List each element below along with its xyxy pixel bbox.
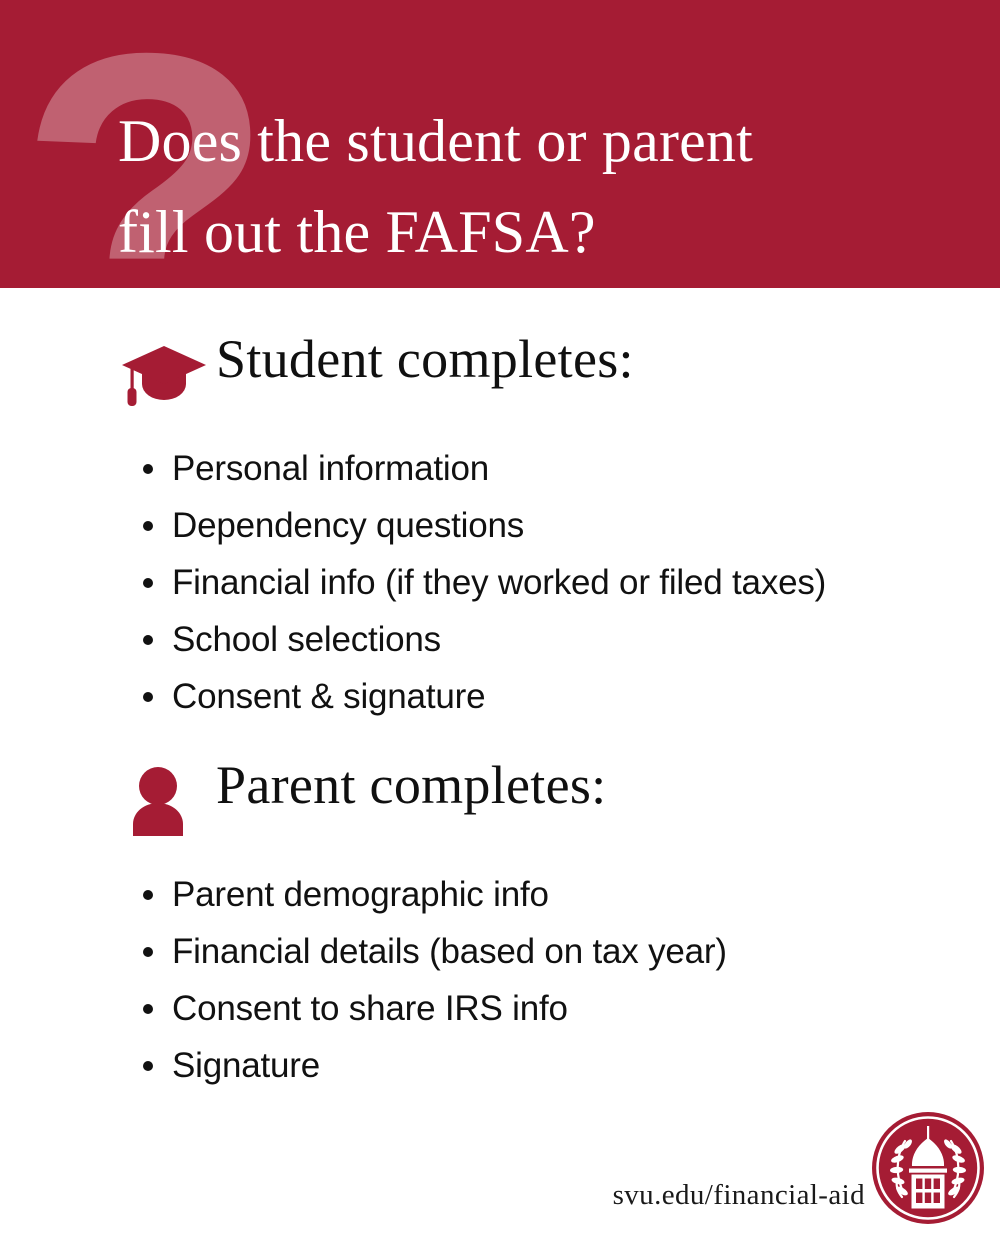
list-item: Consent & signature: [0, 668, 1000, 725]
footer: svu.edu/financial-aid: [0, 1105, 1000, 1250]
fafsa-infographic: ? Does the student or parent fill out th…: [0, 0, 1000, 1250]
page-title: Does the student or parent fill out the …: [118, 96, 948, 278]
bullet-dot-icon: [143, 635, 153, 645]
financial-aid-url[interactable]: svu.edu/financial-aid: [613, 1179, 865, 1212]
list-item-label: Personal information: [172, 449, 489, 488]
section-parent-header: Parent completes:: [0, 758, 1000, 844]
list-item: Parent demographic info: [0, 866, 1000, 923]
list-item-label: Financial info (if they worked or filed …: [172, 563, 826, 602]
list-item: Personal information: [0, 440, 1000, 497]
graduation-cap-icon: [112, 338, 208, 410]
bullet-dot-icon: [143, 1004, 153, 1014]
bullet-dot-icon: [143, 692, 153, 702]
list-item: Financial info (if they worked or filed …: [0, 554, 1000, 611]
bullet-dot-icon: [143, 578, 153, 588]
list-item-label: Consent & signature: [172, 677, 485, 716]
person-icon: [112, 764, 208, 836]
list-item: Consent to share IRS info: [0, 980, 1000, 1037]
svu-seal-logo: [871, 1111, 985, 1225]
list-item: Financial details (based on tax year): [0, 923, 1000, 980]
section-parent-title: Parent completes:: [216, 754, 606, 816]
list-item-label: Parent demographic info: [172, 875, 549, 914]
list-item: School selections: [0, 611, 1000, 668]
list-item-label: Consent to share IRS info: [172, 989, 568, 1028]
bullet-dot-icon: [143, 464, 153, 474]
section-student: Student completes: Personal information …: [0, 332, 1000, 725]
section-student-header: Student completes:: [0, 332, 1000, 418]
bullet-dot-icon: [143, 1061, 153, 1071]
list-item-label: School selections: [172, 620, 441, 659]
page-title-line-2: fill out the FAFSA?: [118, 187, 948, 278]
header-banner: ? Does the student or parent fill out th…: [0, 0, 1000, 288]
bullet-dot-icon: [143, 947, 153, 957]
list-item-label: Dependency questions: [172, 506, 524, 545]
page-title-line-1: Does the student or parent: [118, 96, 948, 187]
list-item-label: Financial details (based on tax year): [172, 932, 727, 971]
student-bullet-list: Personal information Dependency question…: [0, 440, 1000, 725]
list-item: Signature: [0, 1037, 1000, 1094]
list-item: Dependency questions: [0, 497, 1000, 554]
section-parent: Parent completes: Parent demographic inf…: [0, 758, 1000, 1094]
list-item-label: Signature: [172, 1046, 320, 1085]
section-student-title: Student completes:: [216, 328, 634, 390]
parent-bullet-list: Parent demographic info Financial detail…: [0, 866, 1000, 1094]
bullet-dot-icon: [143, 521, 153, 531]
bullet-dot-icon: [143, 890, 153, 900]
